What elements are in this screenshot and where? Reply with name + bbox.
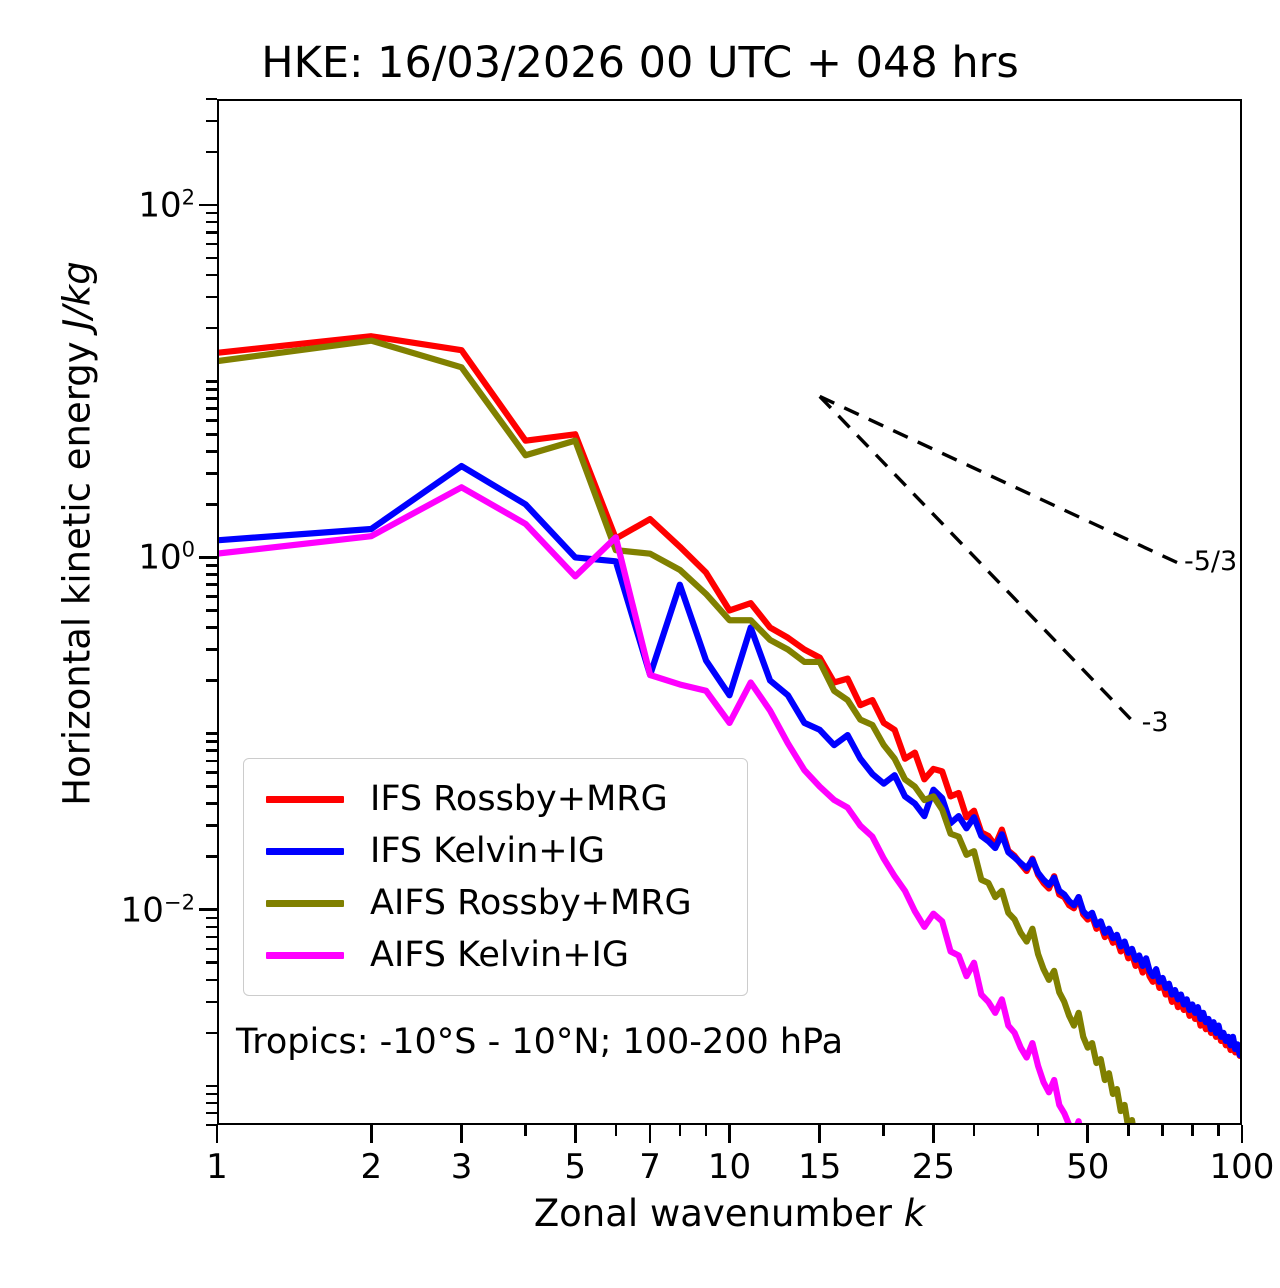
y-axis-minor-tick xyxy=(206,397,217,400)
y-axis-minor-tick xyxy=(206,648,217,651)
y-axis-minor-tick xyxy=(206,855,217,858)
y-axis-label: Horizontal kinetic energy J/kg xyxy=(56,184,99,884)
legend-item-label: IFS Kelvin+IG xyxy=(370,831,605,871)
y-axis-minor-tick xyxy=(206,1032,217,1035)
y-axis-minor-tick xyxy=(206,388,217,391)
y-axis-minor-tick xyxy=(206,1102,217,1105)
x-axis-minor-tick xyxy=(1191,1125,1194,1136)
y-axis-minor-tick xyxy=(206,151,217,154)
y-axis-minor-tick xyxy=(206,926,217,929)
x-axis-tick-label: 2 xyxy=(360,1147,382,1187)
y-axis-minor-tick xyxy=(206,595,217,598)
x-axis-minor-tick xyxy=(973,1125,976,1136)
y-axis-minor-tick xyxy=(206,1001,217,1004)
y-axis-major-tick xyxy=(199,556,217,559)
slope-reference-label: -3 xyxy=(1142,707,1169,738)
x-axis-tick-label: 7 xyxy=(639,1147,661,1187)
y-axis-minor-tick xyxy=(206,936,217,939)
legend-swatch-line xyxy=(266,900,344,907)
y-axis-minor-tick xyxy=(206,824,217,827)
x-axis-minor-tick xyxy=(705,1125,708,1136)
y-axis-minor-tick xyxy=(206,948,217,951)
y-axis-tick-label: 102 xyxy=(40,184,195,225)
y-axis-minor-tick xyxy=(206,609,217,612)
y-axis-label-units: J/kg xyxy=(56,261,99,329)
y-axis-tick-label: 100 xyxy=(40,537,195,578)
y-axis-minor-tick xyxy=(206,407,217,410)
y-axis-minor-tick xyxy=(206,573,217,576)
x-axis-major-tick xyxy=(1241,1125,1244,1143)
x-axis-label-text: Zonal wavenumber xyxy=(534,1192,904,1235)
y-axis-minor-tick xyxy=(206,749,217,752)
y-axis-minor-tick xyxy=(206,296,217,299)
legend-item-label: AIFS Kelvin+IG xyxy=(370,935,629,975)
y-axis-minor-tick xyxy=(206,257,217,260)
y-axis-minor-tick xyxy=(206,1112,217,1115)
y-axis-major-tick xyxy=(199,908,217,911)
legend-item-label: AIFS Rossby+MRG xyxy=(370,883,692,923)
y-axis-minor-tick xyxy=(206,433,217,436)
y-axis-minor-tick xyxy=(206,243,217,246)
x-axis-major-tick xyxy=(574,1125,577,1143)
y-axis-minor-tick xyxy=(206,785,217,788)
y-axis-minor-tick xyxy=(206,760,217,763)
x-axis-label-symbol: k xyxy=(904,1192,925,1235)
y-axis-minor-tick xyxy=(206,380,217,383)
x-axis-tick-label: 3 xyxy=(451,1147,473,1187)
x-axis-tick-label: 50 xyxy=(1066,1147,1109,1187)
y-axis-minor-tick xyxy=(206,327,217,330)
y-axis-minor-tick xyxy=(206,274,217,277)
chart-page: HKE: 16/03/2026 00 UTC + 048 hrs Horizon… xyxy=(0,0,1280,1288)
y-axis-minor-tick xyxy=(206,472,217,475)
y-axis-minor-tick xyxy=(206,583,217,586)
x-axis-minor-tick xyxy=(1217,1125,1220,1136)
x-axis-label: Zonal wavenumber k xyxy=(217,1192,1242,1235)
y-axis-minor-tick xyxy=(206,961,217,964)
region-annotation: Tropics: -10°S - 10°N; 100-200 hPa xyxy=(236,1022,843,1062)
y-axis-minor-tick xyxy=(206,740,217,743)
y-axis-minor-tick xyxy=(206,1093,217,1096)
y-axis-minor-tick xyxy=(206,979,217,982)
y-axis-minor-tick xyxy=(206,419,217,422)
x-axis-minor-tick xyxy=(615,1125,618,1136)
legend-swatch-line xyxy=(266,952,344,959)
legend-swatch-line xyxy=(266,848,344,855)
y-axis-minor-tick xyxy=(206,98,217,101)
y-axis-minor-tick xyxy=(206,564,217,567)
legend-item-label: IFS Rossby+MRG xyxy=(370,779,668,819)
x-axis-tick-label: 25 xyxy=(912,1147,955,1187)
x-axis-major-tick xyxy=(728,1125,731,1143)
y-axis-major-tick xyxy=(199,204,217,207)
y-axis-minor-tick xyxy=(206,626,217,629)
legend-swatch-line xyxy=(266,796,344,803)
legend-item: IFS Rossby+MRG xyxy=(244,773,747,825)
x-axis-minor-tick xyxy=(1037,1125,1040,1136)
y-axis-minor-tick xyxy=(206,679,217,682)
x-axis-major-tick xyxy=(460,1125,463,1143)
x-axis-major-tick xyxy=(818,1125,821,1143)
y-axis-minor-tick xyxy=(206,231,217,234)
x-axis-tick-label: 15 xyxy=(798,1147,841,1187)
y-axis-minor-tick xyxy=(206,1085,217,1088)
x-axis-minor-tick xyxy=(882,1125,885,1136)
y-axis-minor-tick xyxy=(206,732,217,735)
legend-item: IFS Kelvin+IG xyxy=(244,825,747,877)
x-axis-major-tick xyxy=(1086,1125,1089,1143)
legend-item: AIFS Rossby+MRG xyxy=(244,877,747,929)
x-axis-major-tick xyxy=(932,1125,935,1143)
legend: IFS Rossby+MRG IFS Kelvin+IG AIFS Rossby… xyxy=(243,758,748,996)
legend-item: AIFS Kelvin+IG xyxy=(244,929,747,981)
chart-title: HKE: 16/03/2026 00 UTC + 048 hrs xyxy=(0,38,1280,88)
x-axis-major-tick xyxy=(216,1125,219,1143)
y-axis-minor-tick xyxy=(206,771,217,774)
y-axis-minor-tick xyxy=(206,503,217,506)
x-axis-major-tick xyxy=(649,1125,652,1143)
x-axis-minor-tick xyxy=(679,1125,682,1136)
x-axis-tick-label: 5 xyxy=(564,1147,586,1187)
x-axis-minor-tick xyxy=(1161,1125,1164,1136)
y-axis-minor-tick xyxy=(206,802,217,805)
x-axis-minor-tick xyxy=(1127,1125,1130,1136)
y-axis-minor-tick xyxy=(206,221,217,224)
y-axis-minor-tick xyxy=(206,917,217,920)
slope-reference-label: -5/3 xyxy=(1184,546,1237,577)
y-axis-minor-tick xyxy=(206,212,217,215)
y-axis-tick-label: 10−2 xyxy=(40,889,195,930)
x-axis-tick-label: 10 xyxy=(708,1147,751,1187)
y-axis-minor-tick xyxy=(206,450,217,453)
y-axis-minor-tick xyxy=(206,120,217,123)
x-axis-tick-label: 1 xyxy=(206,1147,228,1187)
x-axis-minor-tick xyxy=(524,1125,527,1136)
x-axis-major-tick xyxy=(370,1125,373,1143)
x-axis-tick-label: 100 xyxy=(1210,1147,1275,1187)
y-axis-minor-tick xyxy=(206,1124,217,1127)
